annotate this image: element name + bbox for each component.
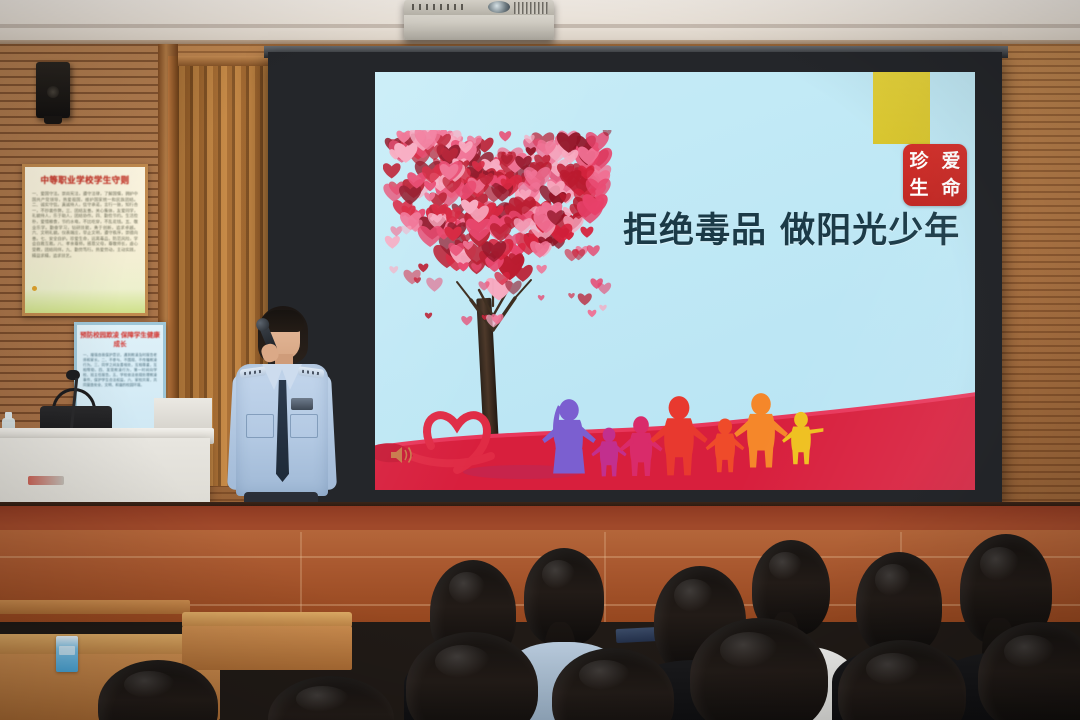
presenter-pocket-right xyxy=(290,414,318,438)
poster-safety-body: 一、增强自我保护意识，遇到欺凌及时报告老师和家长。二、不参与、不围观、不传播欺凌… xyxy=(83,353,157,388)
audience-head xyxy=(268,676,394,720)
poster-safety-title: 预防校园欺凌 保障学生健康成长 xyxy=(77,331,163,349)
audio-speaker-icon[interactable] xyxy=(389,444,415,466)
poster-grass-decoration xyxy=(25,289,145,313)
poster-student-code-title: 中等职业学校学生守则 xyxy=(25,174,145,186)
auditorium-scene: 中等职业学校学生守则 一、爱国守法。崇尚宪法，遵守法律，了解国情，拥护中国共产党… xyxy=(0,0,1080,720)
wall-speaker-bracket xyxy=(44,116,62,124)
bench-rail-back xyxy=(0,600,190,614)
poster-student-code: 中等职业学校学生守则 一、爱国守法。崇尚宪法，遵守法律，了解国情，拥护中国共产党… xyxy=(22,164,148,316)
yellow-banner xyxy=(873,72,930,144)
seal-char-4: 命 xyxy=(935,175,967,202)
seal-char-2: 爱 xyxy=(935,148,967,175)
seal-char-3: 生 xyxy=(903,175,935,202)
projector-buttons[interactable] xyxy=(412,4,464,10)
tile-grout-col-1 xyxy=(300,532,302,622)
audience-head xyxy=(406,632,538,720)
presenter-badge xyxy=(291,398,313,410)
bench-panel-mid xyxy=(182,626,352,670)
slide-content: 珍 爱 生 命 拒绝毒品 做阳光少年 xyxy=(375,72,975,490)
presenter-pocket-left xyxy=(246,414,274,438)
projector-lens xyxy=(488,1,510,13)
tile-grout-col-2 xyxy=(604,532,606,622)
seal-char-1: 珍 xyxy=(903,148,935,175)
audience-head xyxy=(838,640,966,720)
poster-student-code-body: 一、爱国守法。崇尚宪法，遵守法律，了解国情，拥护中国共产党领导，热爱祖国，维护国… xyxy=(32,191,138,258)
slide-title: 拒绝毒品 做阳光少年 xyxy=(623,202,963,253)
red-ribbon-and-children xyxy=(375,372,975,490)
podium-logo xyxy=(28,476,64,485)
juice-carton[interactable] xyxy=(56,636,78,672)
wall-speaker xyxy=(36,62,70,118)
seal-cherish-life: 珍 爱 生 命 xyxy=(903,144,967,206)
projector-vents xyxy=(514,2,548,14)
ceiling-projector xyxy=(404,0,554,40)
